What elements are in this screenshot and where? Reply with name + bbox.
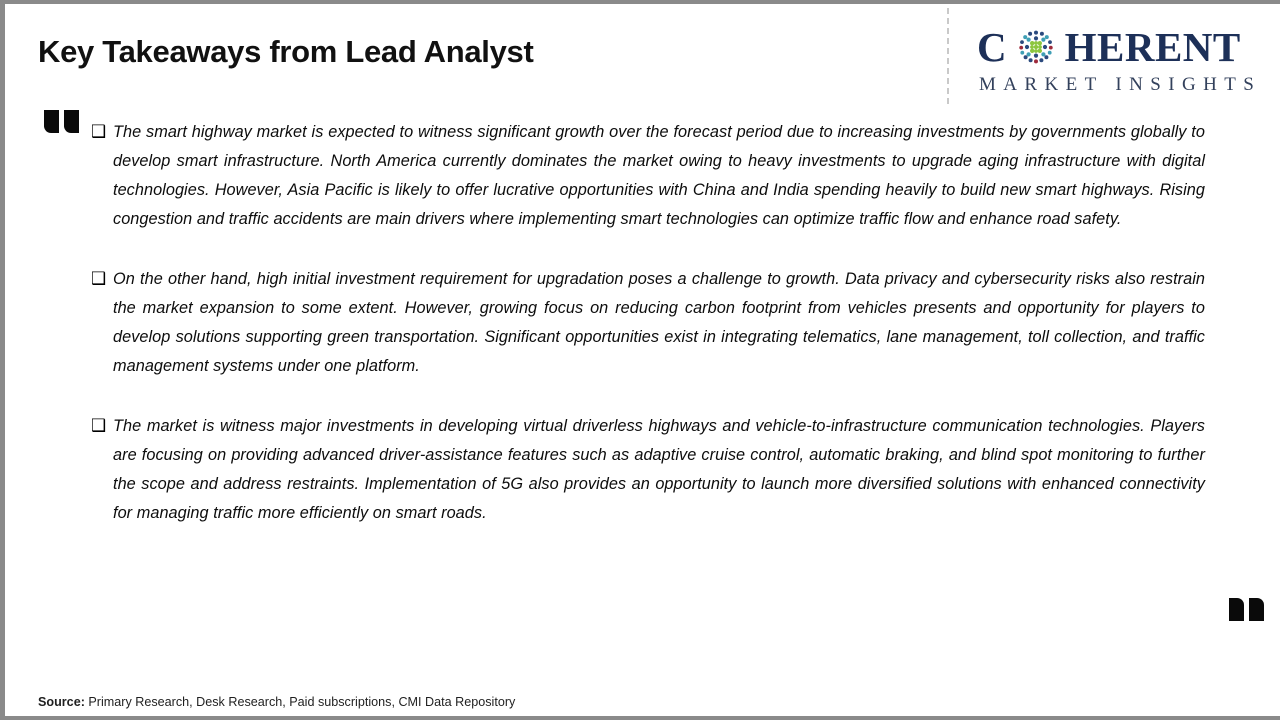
slide-footer: Source: Primary Research, Desk Research,…: [5, 669, 1280, 716]
square-bullet-icon: ❑: [91, 118, 113, 147]
page-title: Key Takeaways from Lead Analyst: [38, 34, 534, 70]
quote-close-icon: [1227, 581, 1271, 625]
source-value: Primary Research, Desk Research, Paid su…: [85, 695, 515, 709]
list-item: ❑ The market is witness major investment…: [91, 412, 1205, 528]
dotted-globe-icon: [1019, 27, 1053, 61]
takeaway-text-3: The market is witness major investments …: [113, 412, 1205, 528]
square-bullet-icon: ❑: [91, 265, 113, 294]
source-label: Source:: [38, 695, 85, 709]
takeaway-bullet-list: ❑ The smart highway market is expected t…: [91, 118, 1205, 528]
slide-header: Key Takeaways from Lead Analyst C: [5, 4, 1280, 104]
vertical-dashed-divider-icon: [947, 8, 949, 104]
logo-wordmark-pre: C: [977, 24, 1007, 70]
company-logo: C: [977, 24, 1269, 102]
logo-tagline: MARKET INSIGHTS: [979, 74, 1261, 96]
square-bullet-icon: ❑: [91, 412, 113, 441]
slide-canvas: Key Takeaways from Lead Analyst C: [0, 0, 1280, 720]
slide-body: ❑ The smart highway market is expected t…: [5, 104, 1280, 669]
takeaway-text-2: On the other hand, high initial investme…: [113, 265, 1205, 381]
logo-wordmark: C: [977, 24, 1269, 70]
takeaway-text-1: The smart highway market is expected to …: [113, 118, 1205, 234]
quote-open-icon: [42, 106, 86, 150]
list-item: ❑ On the other hand, high initial invest…: [91, 265, 1205, 381]
list-item: ❑ The smart highway market is expected t…: [91, 118, 1205, 234]
source-note: Source: Primary Research, Desk Research,…: [38, 695, 515, 709]
logo-wordmark-post: HERENT: [1065, 24, 1241, 70]
